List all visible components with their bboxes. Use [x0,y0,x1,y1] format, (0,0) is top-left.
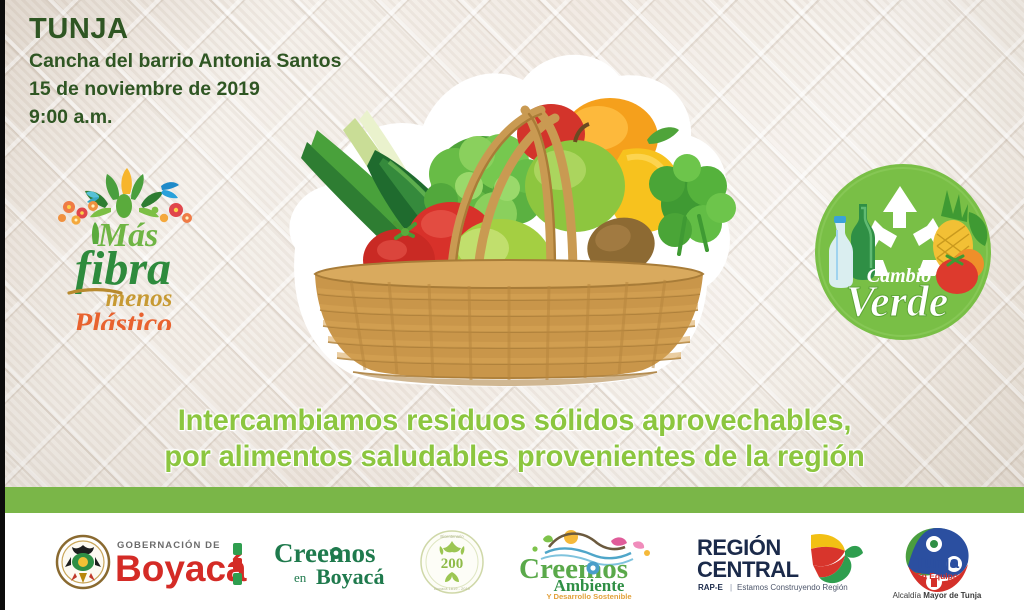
foliage-icon [85,168,163,218]
slogan-text: Intercambiamos residuos sólidos aprovech… [20,404,1008,475]
region-central-ribbon-icon [811,533,863,582]
boyaca-coat-of-arms-icon [57,536,109,588]
bicentenario-top-text: Bicentenario [440,534,464,539]
event-time: 9:00 a.m. [29,104,341,132]
tunja-caption: Alcaldía Mayor de Tunja [893,591,982,600]
tunja-line2: En Equipo [916,571,958,581]
tunja-line1: Tunja [915,553,960,572]
boyaca-flag-mark [233,543,242,585]
wicker-basket [315,260,703,386]
poster-canvas: TUNJA Cancha del barrio Antonia Santos 1… [0,0,1024,610]
green-divider-bar [5,487,1024,513]
logo-region-central: REGIÓN CENTRAL RAP-E | Estamos Construye… [693,529,865,595]
slogan-line-1: Intercambiamos residuos sólidos aprovech… [20,404,1008,439]
boyaca-title: Boyacá [115,548,247,589]
page-title: TUNJA [29,12,341,46]
logo-creemos-ambiente: Creemos Ambiente Y Desarrollo Sostenible [505,525,673,599]
logo-gobernacion-de-boyaca: GOBERNACIÓN DE Boyacá [51,531,251,593]
ambiente-sub2: Y Desarrollo Sostenible [547,592,632,599]
cambio-verde-word-verde: Verde [846,277,949,326]
mas-fibra-menos-plastico-logo: Más fibra menos Plástico [35,160,215,330]
bicentenario-number: 200 [441,556,464,572]
region-central-tagline-divider: | [730,583,732,592]
fibra-word-plastico: Plástico [73,307,172,330]
logo-bicentenario-seal: 200 Bicentenario Boyacá 1819 - 2019 [418,528,486,596]
event-header: TUNJA Cancha del barrio Antonia Santos 1… [29,12,341,131]
event-date: 15 de noviembre de 2019 [29,76,341,104]
event-venue: Cancha del barrio Antonia Santos [29,48,341,76]
region-central-tagline-b: Estamos Construyendo Región [737,583,848,592]
sponsor-footer: GOBERNACIÓN DE Boyacá Creemos en Boyacá [5,513,1024,610]
slogan-line-2: por alimentos saludables provenientes de… [20,440,1008,475]
logo-alcaldia-mayor-de-tunja: Tunja En Equipo Alcaldía Mayor de Tunja [884,522,990,602]
creemos-boyaca-sub1: en [294,570,307,585]
bicentenario-bottom-text: Boyacá 1819 - 2019 [434,586,471,591]
region-central-tagline-a: RAP-E [698,583,724,592]
logo-creemos-en-boyaca: Creemos en Boyacá [270,532,398,592]
cambio-verde-badge: Cambio Verde [805,160,1001,345]
region-central-line2: CENTRAL [697,557,799,582]
creemos-boyaca-sub2: Boyacá [316,564,384,589]
